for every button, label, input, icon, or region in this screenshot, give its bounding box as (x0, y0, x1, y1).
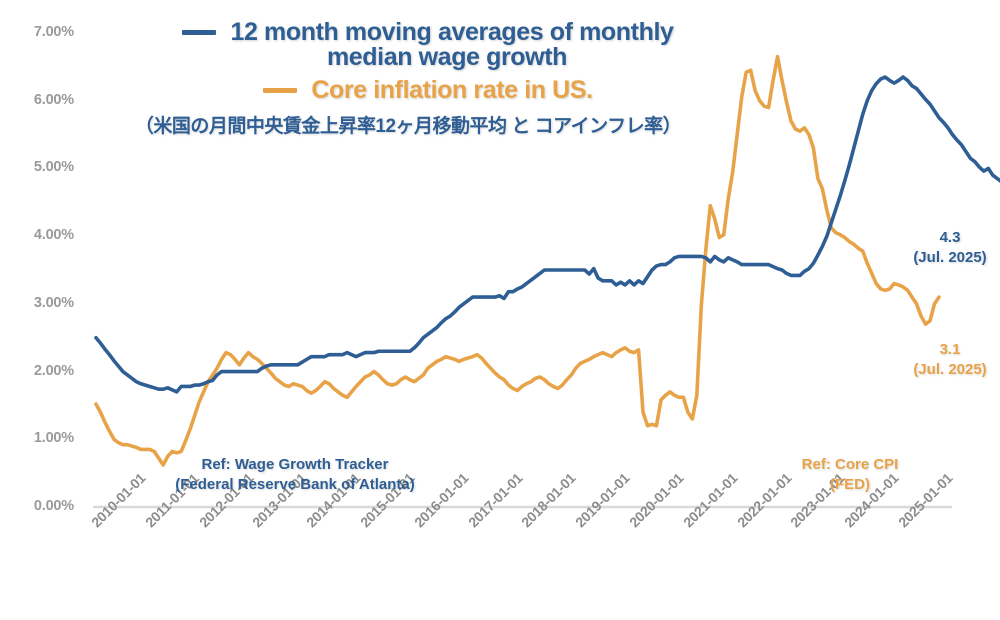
y-axis-tick-300: 3.00% (2, 295, 74, 311)
y-axis-tick-500: 5.00% (2, 159, 74, 175)
line-dash-icon (182, 30, 216, 35)
end-value-wage-growth: 4.3 (Jul. 2025) (900, 228, 1000, 269)
end-value-wage-growth-number: 4.3 (900, 228, 1000, 248)
ref-note-wage-growth-line2: (Federal Reserve Bank of Atlanta) (155, 475, 435, 495)
y-axis-tick-700: 7.00% (2, 24, 74, 40)
ref-note-core-cpi-line2: (FED) (775, 475, 925, 495)
ref-note-wage-growth: Ref: Wage Growth Tracker (Federal Reserv… (155, 455, 435, 496)
legend-label-wage-growth-line2: median wage growth (327, 43, 567, 71)
chart-canvas: 0.00%1.00%2.00%3.00%4.00%5.00%6.00%7.00%… (0, 0, 1000, 620)
y-axis-tick-200: 2.00% (2, 363, 74, 379)
chart-legend: 12 month moving averages of monthly medi… (108, 18, 748, 138)
ref-note-core-cpi-line1: Ref: Core CPI (775, 455, 925, 475)
end-value-core-inflation-date: (Jul. 2025) (900, 360, 1000, 380)
legend-label-wage-growth-line2-row: median wage growth (108, 43, 748, 72)
legend-item-core-inflation: Core inflation rate in US. (108, 76, 748, 105)
legend-subtitle-japanese: （米国の月間中央賃金上昇率12ヶ月移動平均 と コアインフレ率） (108, 111, 748, 138)
ref-note-core-cpi: Ref: Core CPI (FED) (775, 455, 925, 496)
line-dash-icon (263, 88, 297, 93)
y-axis-tick-100: 1.00% (2, 430, 74, 446)
end-value-wage-growth-date: (Jul. 2025) (900, 248, 1000, 268)
end-value-core-inflation: 3.1 (Jul. 2025) (900, 340, 1000, 381)
ref-note-wage-growth-line1: Ref: Wage Growth Tracker (155, 455, 435, 475)
legend-label-core-inflation: Core inflation rate in US. (311, 76, 592, 105)
y-axis-tick-400: 4.00% (2, 227, 74, 243)
y-axis-tick-000: 0.00% (2, 498, 74, 514)
y-axis-tick-600: 6.00% (2, 92, 74, 108)
end-value-core-inflation-number: 3.1 (900, 340, 1000, 360)
